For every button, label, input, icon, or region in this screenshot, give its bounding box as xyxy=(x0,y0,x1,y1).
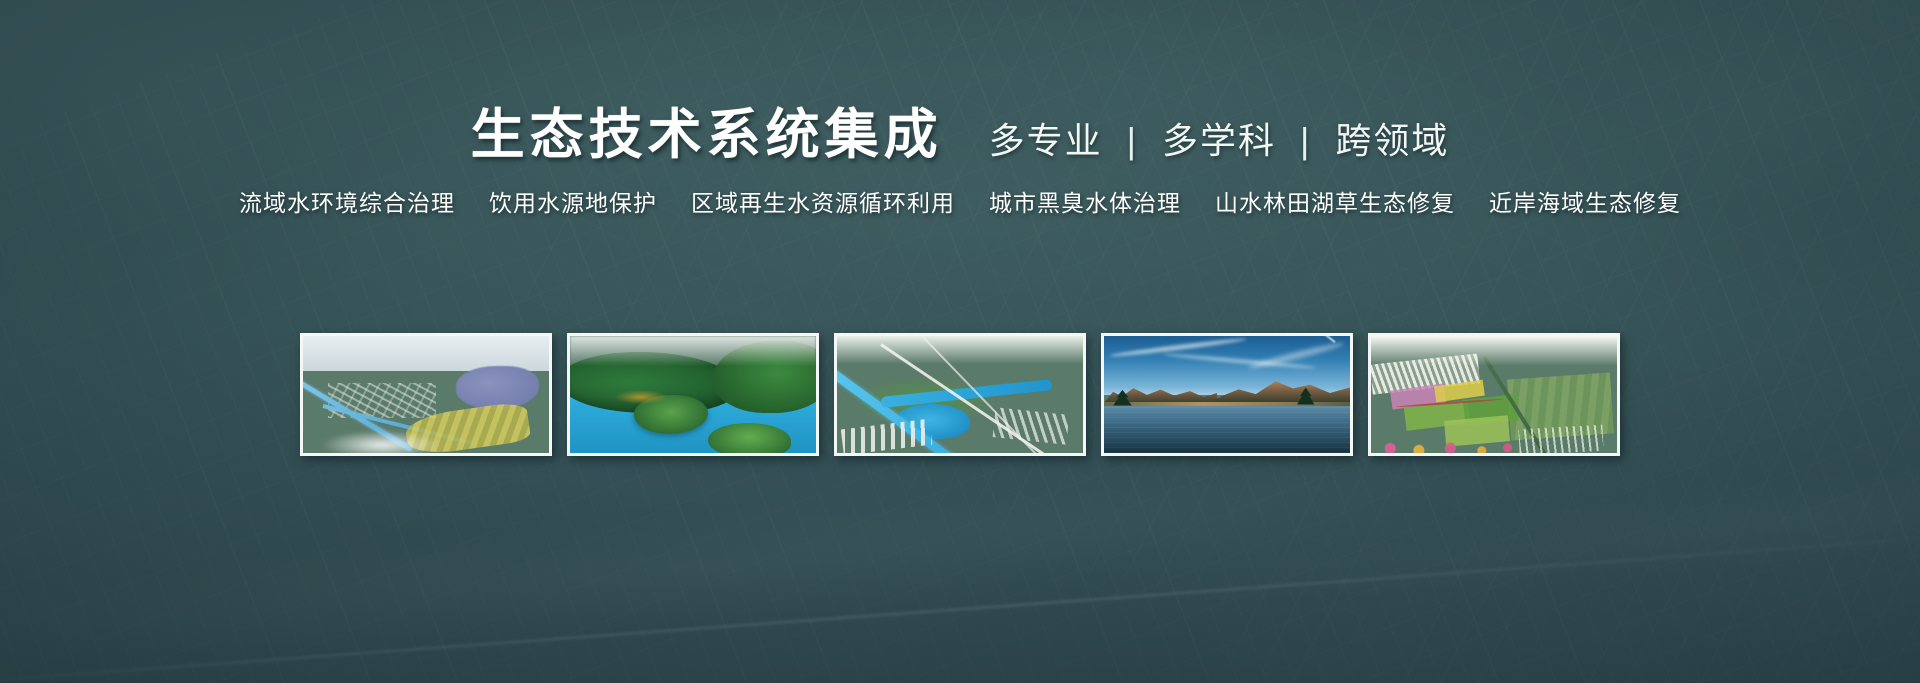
thumb5-village xyxy=(1518,425,1603,453)
thumb5-flower-beds xyxy=(1376,439,1519,453)
thumb3-town xyxy=(993,407,1070,445)
tagline-row: 流域水环境综合治理 饮用水源地保护 区域再生水资源循环利用 城市黑臭水体治理 山… xyxy=(0,192,1920,215)
hero-banner: 生态技术系统集成 多专业 | 多学科 | 跨领域 流域水环境综合治理 饮用水源地… xyxy=(0,0,1920,683)
thumb1-lake xyxy=(456,366,540,408)
subtitle-part-2: 多学科 xyxy=(1162,120,1276,161)
thumbnail-item-3[interactable] xyxy=(834,333,1086,456)
subtitle-separator-2: | xyxy=(1288,123,1323,159)
thumb3-building-blocks xyxy=(841,418,932,453)
mountain-lake-photo-thumbnail xyxy=(1104,336,1350,453)
page-subtitle: 多专业 | 多学科 | 跨领域 xyxy=(989,123,1450,159)
tagline-item-2[interactable]: 饮用水源地保护 xyxy=(489,192,657,215)
thumbnail-item-5[interactable] xyxy=(1368,333,1620,456)
thumb3-haze xyxy=(837,336,1083,364)
tagline-item-5[interactable]: 山水林田湖草生态修复 xyxy=(1215,192,1455,215)
page-title: 生态技术系统集成 xyxy=(471,108,943,162)
thumb4-sky xyxy=(1104,336,1350,395)
thumbnail-item-1[interactable] xyxy=(300,333,552,456)
thumb5-haze xyxy=(1371,336,1617,366)
subtitle-separator-1: | xyxy=(1115,123,1150,159)
subtitle-part-3: 跨领域 xyxy=(1335,120,1449,161)
tagline-item-1[interactable]: 流域水环境综合治理 xyxy=(239,192,455,215)
thumb4-reflection xyxy=(1104,406,1350,453)
thumb1-cloud xyxy=(318,430,446,453)
subtitle-part-1: 多专业 xyxy=(989,120,1103,161)
thumbnail-row xyxy=(0,333,1920,456)
watershed-aerial-thumbnail xyxy=(303,336,549,453)
tagline-item-3[interactable]: 区域再生水资源循环利用 xyxy=(691,192,955,215)
thumbnail-item-2[interactable] xyxy=(567,333,819,456)
tagline-item-4[interactable]: 城市黑臭水体治理 xyxy=(989,192,1181,215)
thumb2-autumn-foliage xyxy=(614,390,668,404)
headline-row: 生态技术系统集成 多专业 | 多学科 | 跨领域 xyxy=(0,108,1920,162)
river-greenway-thumbnail xyxy=(837,336,1083,453)
thumbnail-item-4[interactable] xyxy=(1101,333,1353,456)
banner-content: 生态技术系统集成 多专业 | 多学科 | 跨领域 流域水环境综合治理 饮用水源地… xyxy=(0,0,1920,683)
tagline-item-6[interactable]: 近岸海域生态修复 xyxy=(1489,192,1681,215)
thumb2-mist xyxy=(570,336,816,366)
forest-reservoir-thumbnail xyxy=(570,336,816,453)
farmland-fields-thumbnail xyxy=(1371,336,1617,453)
